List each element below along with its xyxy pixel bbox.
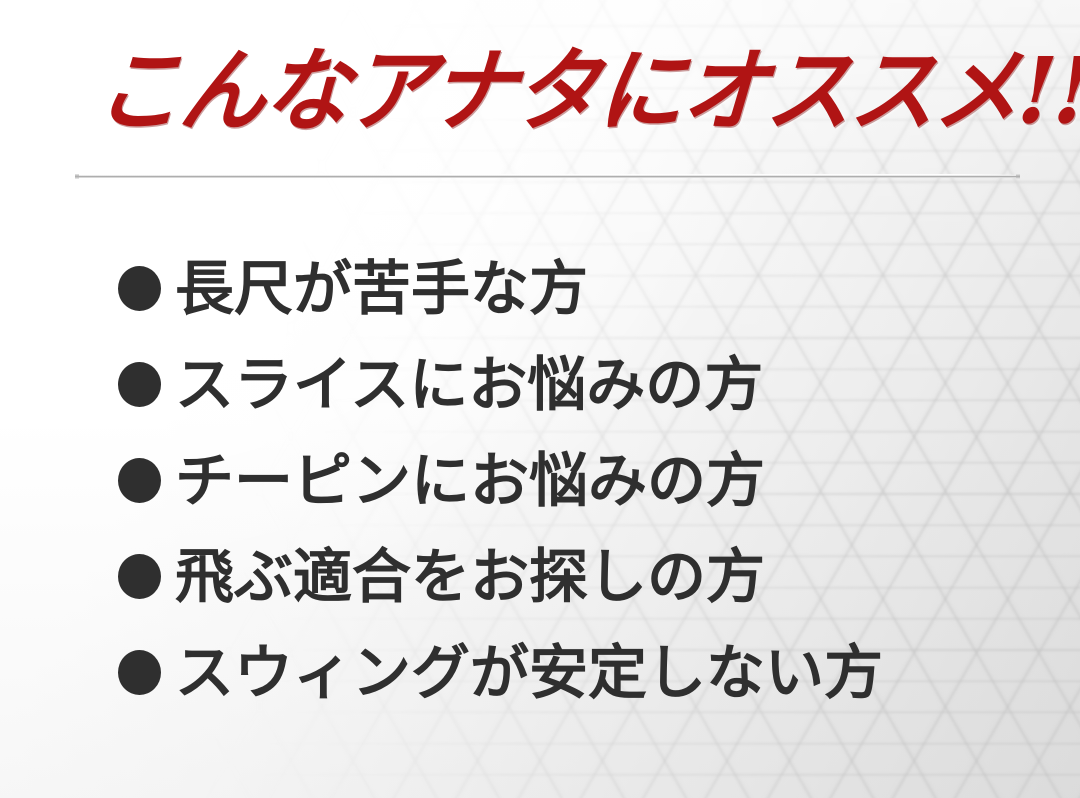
promo-slide: こんなアナタにオススメ!! 長尺が苦手な方 スライスにお悩みの方 チーピンにお悩… xyxy=(0,0,1080,798)
title-divider xyxy=(75,174,1020,180)
list-item-label: 長尺が苦手な方 xyxy=(175,259,588,318)
list-item-label: スライスにお悩みの方 xyxy=(175,355,763,414)
list-item: 長尺が苦手な方 xyxy=(118,240,1018,336)
list-item: チーピンにお悩みの方 xyxy=(118,432,1018,528)
page-title: こんなアナタにオススメ!! xyxy=(92,41,1080,143)
list-item-label: スウィングが安定しない方 xyxy=(175,643,883,702)
bullet-dot-icon xyxy=(118,650,161,695)
bullet-dot-icon xyxy=(118,266,161,311)
bullet-dot-icon xyxy=(118,554,161,599)
recommendation-list: 長尺が苦手な方 スライスにお悩みの方 チーピンにお悩みの方 飛ぶ適合をお探しの方… xyxy=(118,240,1018,720)
bullet-dot-icon xyxy=(118,458,161,503)
list-item: 飛ぶ適合をお探しの方 xyxy=(118,528,1018,624)
slide-content: こんなアナタにオススメ!! 長尺が苦手な方 スライスにお悩みの方 チーピンにお悩… xyxy=(0,0,1080,798)
divider-cap-right xyxy=(1016,174,1020,179)
divider-highlight xyxy=(75,174,1020,175)
list-item: スライスにお悩みの方 xyxy=(118,336,1018,432)
list-item: スウィングが安定しない方 xyxy=(118,624,1018,720)
bullet-dot-icon xyxy=(118,362,161,407)
list-item-label: 飛ぶ適合をお探しの方 xyxy=(175,547,765,606)
divider-cap-left xyxy=(75,174,79,179)
divider-bar xyxy=(75,175,1020,178)
list-item-label: チーピンにお悩みの方 xyxy=(175,451,765,510)
